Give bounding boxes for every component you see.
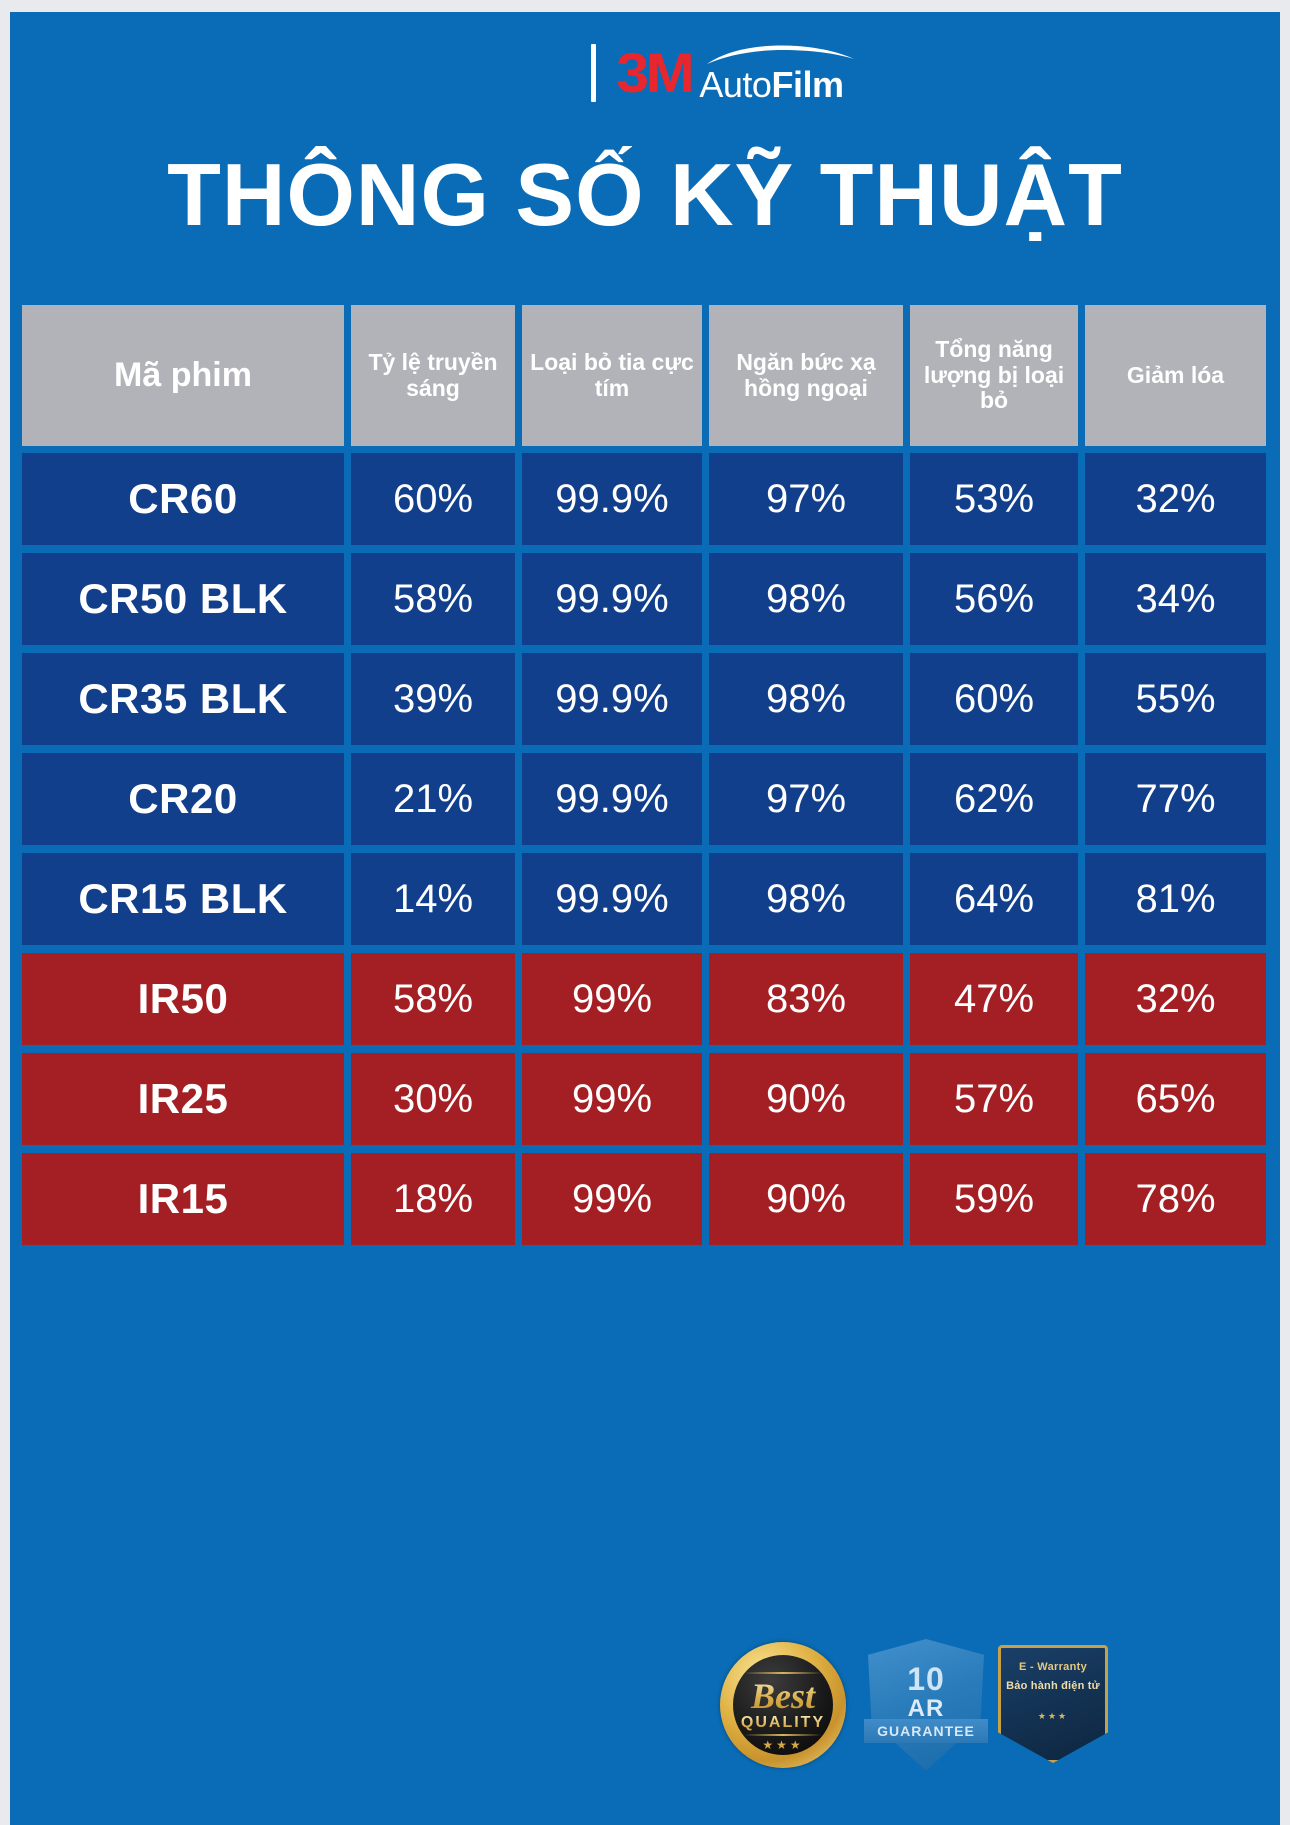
cell-value: 98% <box>709 553 903 645</box>
cell-value: 34% <box>1085 553 1266 645</box>
seal-top-rule <box>744 1672 822 1674</box>
cell-value: 90% <box>709 1153 903 1245</box>
column-header-ma-phim: Mã phim <box>22 305 344 446</box>
cell-value: 32% <box>1085 453 1266 545</box>
3m-wordmark: 3M <box>616 45 691 101</box>
cell-value: 30% <box>351 1053 515 1145</box>
cell-value: 55% <box>1085 653 1266 745</box>
badge-strip: Best QUALITY ★★★ 10 AR GUARANTEE E - War… <box>700 1637 1100 1787</box>
cell-value: 53% <box>910 453 1078 545</box>
cell-value: 18% <box>351 1153 515 1245</box>
cell-value: 99% <box>522 1053 702 1145</box>
table-row: CR35 BLK39%99.9%98%60%55% <box>22 653 1266 745</box>
best-quality-badge: Best QUALITY ★★★ <box>720 1642 846 1768</box>
cell-film-code: IR15 <box>22 1153 344 1245</box>
cell-value: 65% <box>1085 1053 1266 1145</box>
cell-value: 99.9% <box>522 753 702 845</box>
cell-value: 58% <box>351 953 515 1045</box>
table-header-row: Mã phim Tỷ lệ truyền sáng Loại bỏ tia cự… <box>22 305 1266 446</box>
warranty-title: E - Warranty <box>998 1661 1108 1673</box>
cell-film-code: CR60 <box>22 453 344 545</box>
seal-quality-text: QUALITY <box>720 1714 846 1732</box>
column-header-ty-le-truyen-sang: Tỷ lệ truyền sáng <box>351 305 515 446</box>
cell-value: 57% <box>910 1053 1078 1145</box>
cell-value: 99.9% <box>522 653 702 745</box>
page-title: THÔNG SỐ KỸ THUẬT <box>10 147 1280 243</box>
cell-value: 99% <box>522 953 702 1045</box>
cell-film-code: CR15 BLK <box>22 853 344 945</box>
cell-value: 62% <box>910 753 1078 845</box>
cell-film-code: IR50 <box>22 953 344 1045</box>
guarantee-number: 10 <box>868 1661 984 1698</box>
logo-divider-bar <box>591 44 596 102</box>
cell-value: 39% <box>351 653 515 745</box>
table-row: CR15 BLK14%99.9%98%64%81% <box>22 853 1266 945</box>
cell-value: 81% <box>1085 853 1266 945</box>
warranty-subtitle: Bảo hành điện tử <box>998 1679 1108 1693</box>
cell-value: 99.9% <box>522 853 702 945</box>
cell-film-code: CR50 BLK <box>22 553 344 645</box>
table-row: IR2530%99%90%57%65% <box>22 1053 1266 1145</box>
e-warranty-badge: E - Warranty Bảo hành điện tử ★★★ <box>998 1645 1108 1763</box>
spec-table: Mã phim Tỷ lệ truyền sáng Loại bỏ tia cự… <box>22 305 1266 1253</box>
cell-value: 56% <box>910 553 1078 645</box>
column-header-giam-loa: Giảm lóa <box>1085 305 1266 446</box>
table-row: CR2021%99.9%97%62%77% <box>22 753 1266 845</box>
cell-value: 99% <box>522 1153 702 1245</box>
cell-value: 97% <box>709 453 903 545</box>
cell-value: 14% <box>351 853 515 945</box>
cell-film-code: CR35 BLK <box>22 653 344 745</box>
cell-value: 98% <box>709 853 903 945</box>
table-row: IR5058%99%83%47%32% <box>22 953 1266 1045</box>
seal-bottom-rule <box>744 1734 822 1736</box>
column-header-tong-nang-luong-bi-loai-bo: Tổng năng lượng bị loại bỏ <box>910 305 1078 446</box>
cell-value: 21% <box>351 753 515 845</box>
cell-value: 77% <box>1085 753 1266 845</box>
cell-value: 59% <box>910 1153 1078 1245</box>
cell-value: 98% <box>709 653 903 745</box>
cell-value: 47% <box>910 953 1078 1045</box>
cell-value: 64% <box>910 853 1078 945</box>
guarantee-shield-badge: 10 AR GUARANTEE <box>868 1639 984 1771</box>
autofilm-text: AutoFilm <box>699 64 843 106</box>
column-header-ngan-buc-xa-hong-ngoai: Ngăn bức xạ hồng ngoại <box>709 305 903 446</box>
cell-value: 83% <box>709 953 903 1045</box>
brand-logo: 3M AutoFilm <box>10 42 1280 104</box>
warranty-stars-icon: ★★★ <box>998 1711 1108 1722</box>
seal-stars-icon: ★★★ <box>720 1738 846 1752</box>
cell-value: 60% <box>910 653 1078 745</box>
cell-value: 78% <box>1085 1153 1266 1245</box>
cell-value: 97% <box>709 753 903 845</box>
cell-value: 32% <box>1085 953 1266 1045</box>
table-row: IR1518%99%90%59%78% <box>22 1153 1266 1245</box>
guarantee-ribbon: GUARANTEE <box>864 1719 988 1743</box>
car-silhouette-icon <box>705 44 855 66</box>
table-row: CR6060%99.9%97%53%32% <box>22 453 1266 545</box>
cell-value: 60% <box>351 453 515 545</box>
cell-value: 99.9% <box>522 453 702 545</box>
column-header-loai-bo-tia-cuc-tim: Loại bỏ tia cực tím <box>522 305 702 446</box>
cell-value: 90% <box>709 1053 903 1145</box>
table-row: CR50 BLK58%99.9%98%56%34% <box>22 553 1266 645</box>
seal-best-text: Best <box>720 1675 846 1717</box>
cell-value: 99.9% <box>522 553 702 645</box>
auto-word: Auto <box>699 64 771 105</box>
cell-value: 58% <box>351 553 515 645</box>
cell-film-code: IR25 <box>22 1053 344 1145</box>
cell-film-code: CR20 <box>22 753 344 845</box>
poster-canvas: 3M AutoFilm THÔNG SỐ KỸ THUẬT Mã phim Tỷ… <box>10 12 1280 1825</box>
film-word: Film <box>771 64 843 105</box>
